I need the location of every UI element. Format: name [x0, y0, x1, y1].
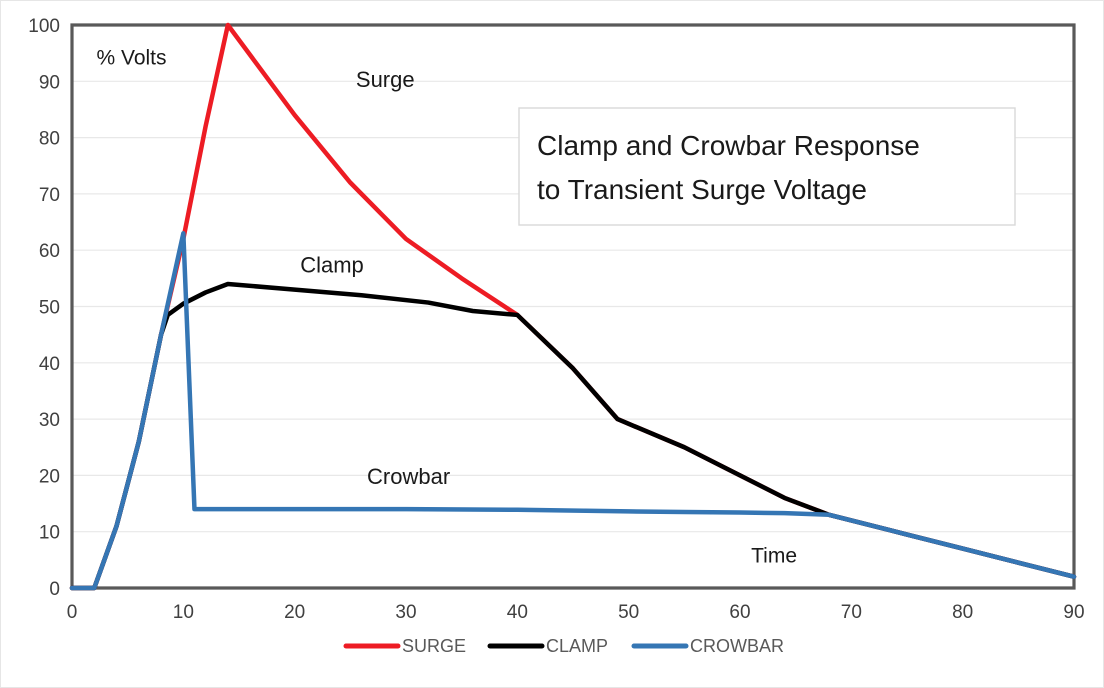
y-axis-tick-label: 80: [39, 129, 60, 150]
x-axis-tick-label: 80: [952, 602, 973, 623]
crowbar-annotation: Crowbar: [367, 464, 450, 489]
x-axis-tick-label: 20: [284, 602, 305, 623]
y-axis-tick-label: 50: [39, 298, 60, 319]
x-axis-tick-label: 60: [729, 602, 750, 623]
chart-title-line-2: to Transient Surge Voltage: [537, 174, 867, 205]
chart-legend: SURGECLAMPCROWBAR: [346, 636, 784, 656]
y-axis-tick-label: 30: [39, 410, 60, 431]
y-axis-tick-label: 40: [39, 354, 60, 375]
y-axis-tick-label: 100: [28, 16, 60, 37]
x-axis-tick-label: 70: [841, 602, 862, 623]
y-axis-tick-label: 20: [39, 466, 60, 487]
x-axis-tick-label: 10: [173, 602, 194, 623]
x-axis-tick-labels: 0102030405060708090: [67, 602, 1085, 623]
x-axis-tick-label: 0: [67, 602, 78, 623]
chart-title-box: Clamp and Crowbar Response to Transient …: [519, 108, 1015, 225]
y-axis-tick-label: 10: [39, 523, 60, 544]
time-annotation: Time: [751, 545, 797, 568]
series-line-clamp: [72, 284, 1074, 588]
y-axis-tick-label: 0: [49, 579, 60, 600]
chart-svg: 0102030405060708090100 01020304050607080…: [1, 1, 1104, 688]
title-background: [519, 108, 1015, 225]
x-axis-tick-label: 90: [1063, 602, 1084, 623]
chart-title-line-1: Clamp and Crowbar Response: [537, 130, 920, 161]
y-axis-tick-labels: 0102030405060708090100: [28, 16, 60, 600]
y-axis-tick-label: 90: [39, 72, 60, 93]
legend-label-surge[interactable]: SURGE: [402, 636, 466, 656]
y-axis-tick-label: 70: [39, 185, 60, 206]
x-axis-tick-label: 40: [507, 602, 528, 623]
surge-annotation: Surge: [356, 67, 415, 92]
volts-annotation: % Volts: [96, 46, 166, 69]
x-axis-tick-label: 30: [395, 602, 416, 623]
clamp-annotation: Clamp: [300, 253, 364, 278]
legend-label-crowbar[interactable]: CROWBAR: [690, 636, 784, 656]
x-axis-tick-label: 50: [618, 602, 639, 623]
chart-container: 0102030405060708090100 01020304050607080…: [0, 0, 1104, 688]
y-axis-tick-label: 60: [39, 241, 60, 262]
legend-label-clamp[interactable]: CLAMP: [546, 636, 608, 656]
gridlines: [72, 25, 1074, 532]
